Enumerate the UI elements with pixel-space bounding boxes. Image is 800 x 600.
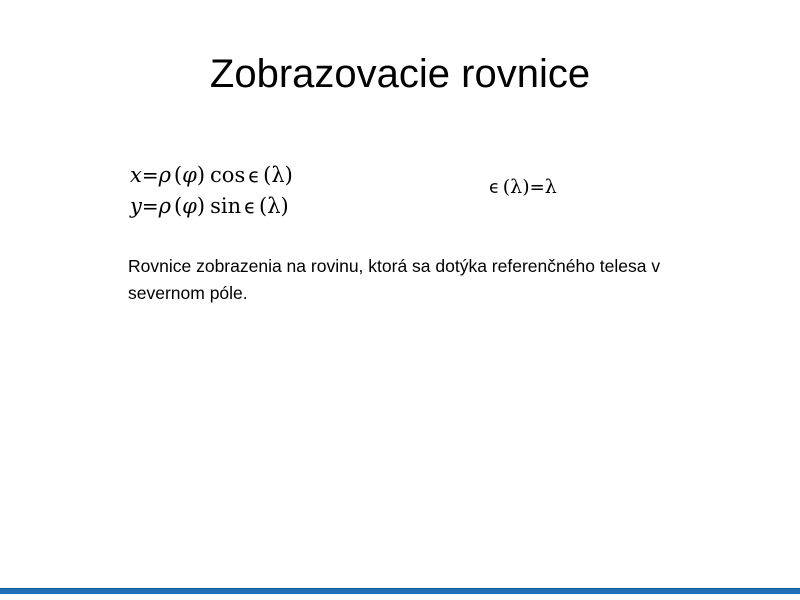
- formula-y-open-paren-1: (: [174, 194, 182, 218]
- formula-eps-rhs: λ: [545, 176, 557, 198]
- formula-eps-lambda: λ: [510, 176, 522, 198]
- formula-y-epsilon: ϵ: [244, 195, 256, 218]
- formula-area: x=ρ(φ)cosϵ(λ) y=ρ(φ)sinϵ(λ) ϵ(λ)=λ: [0, 160, 800, 240]
- page-title: Zobrazovacie rovnice: [0, 52, 800, 96]
- formula-x-cos: cos: [210, 163, 245, 187]
- formula-line-x: x=ρ(φ)cosϵ(λ): [130, 160, 293, 191]
- formula-block-projection-equations: x=ρ(φ)cosϵ(λ) y=ρ(φ)sinϵ(λ): [130, 160, 293, 222]
- formula-y-lhs: y: [130, 194, 142, 218]
- formula-y-equals: =: [142, 194, 159, 218]
- formula-y-lambda: λ: [267, 194, 280, 218]
- formula-x-epsilon: ϵ: [248, 164, 260, 187]
- formula-eps-close-paren: ): [522, 176, 529, 198]
- formula-x-equals: =: [142, 163, 159, 187]
- formula-x-phi: φ: [182, 163, 197, 187]
- formula-y-close-paren-1: ): [197, 194, 205, 218]
- formula-line-y: y=ρ(φ)sinϵ(λ): [130, 191, 293, 222]
- body-paragraph: Rovnice zobrazenia na rovinu, ktorá sa d…: [128, 253, 668, 307]
- formula-x-lambda: λ: [271, 163, 284, 187]
- formula-x-close-paren-2: ): [285, 163, 293, 187]
- formula-eps-equals: =: [530, 177, 545, 198]
- formula-y-open-paren-2: (: [259, 194, 267, 218]
- formula-block-epsilon-definition: ϵ(λ)=λ: [489, 172, 557, 203]
- formula-y-phi: φ: [182, 194, 197, 218]
- bottom-accent-bar: [0, 588, 800, 594]
- formula-y-sin: sin: [210, 194, 241, 218]
- formula-y-rho: ρ: [159, 194, 171, 218]
- formula-x-open-paren-1: (: [174, 163, 182, 187]
- formula-y-close-paren-2: ): [281, 194, 289, 218]
- formula-eps-epsilon: ϵ: [489, 178, 500, 198]
- slide-canvas: Zobrazovacie rovnice x=ρ(φ)cosϵ(λ) y=ρ(φ…: [0, 0, 800, 600]
- formula-x-close-paren-1: ): [197, 163, 205, 187]
- formula-x-rho: ρ: [159, 163, 171, 187]
- formula-x-lhs: x: [130, 163, 142, 187]
- formula-line-epsilon: ϵ(λ)=λ: [489, 172, 557, 203]
